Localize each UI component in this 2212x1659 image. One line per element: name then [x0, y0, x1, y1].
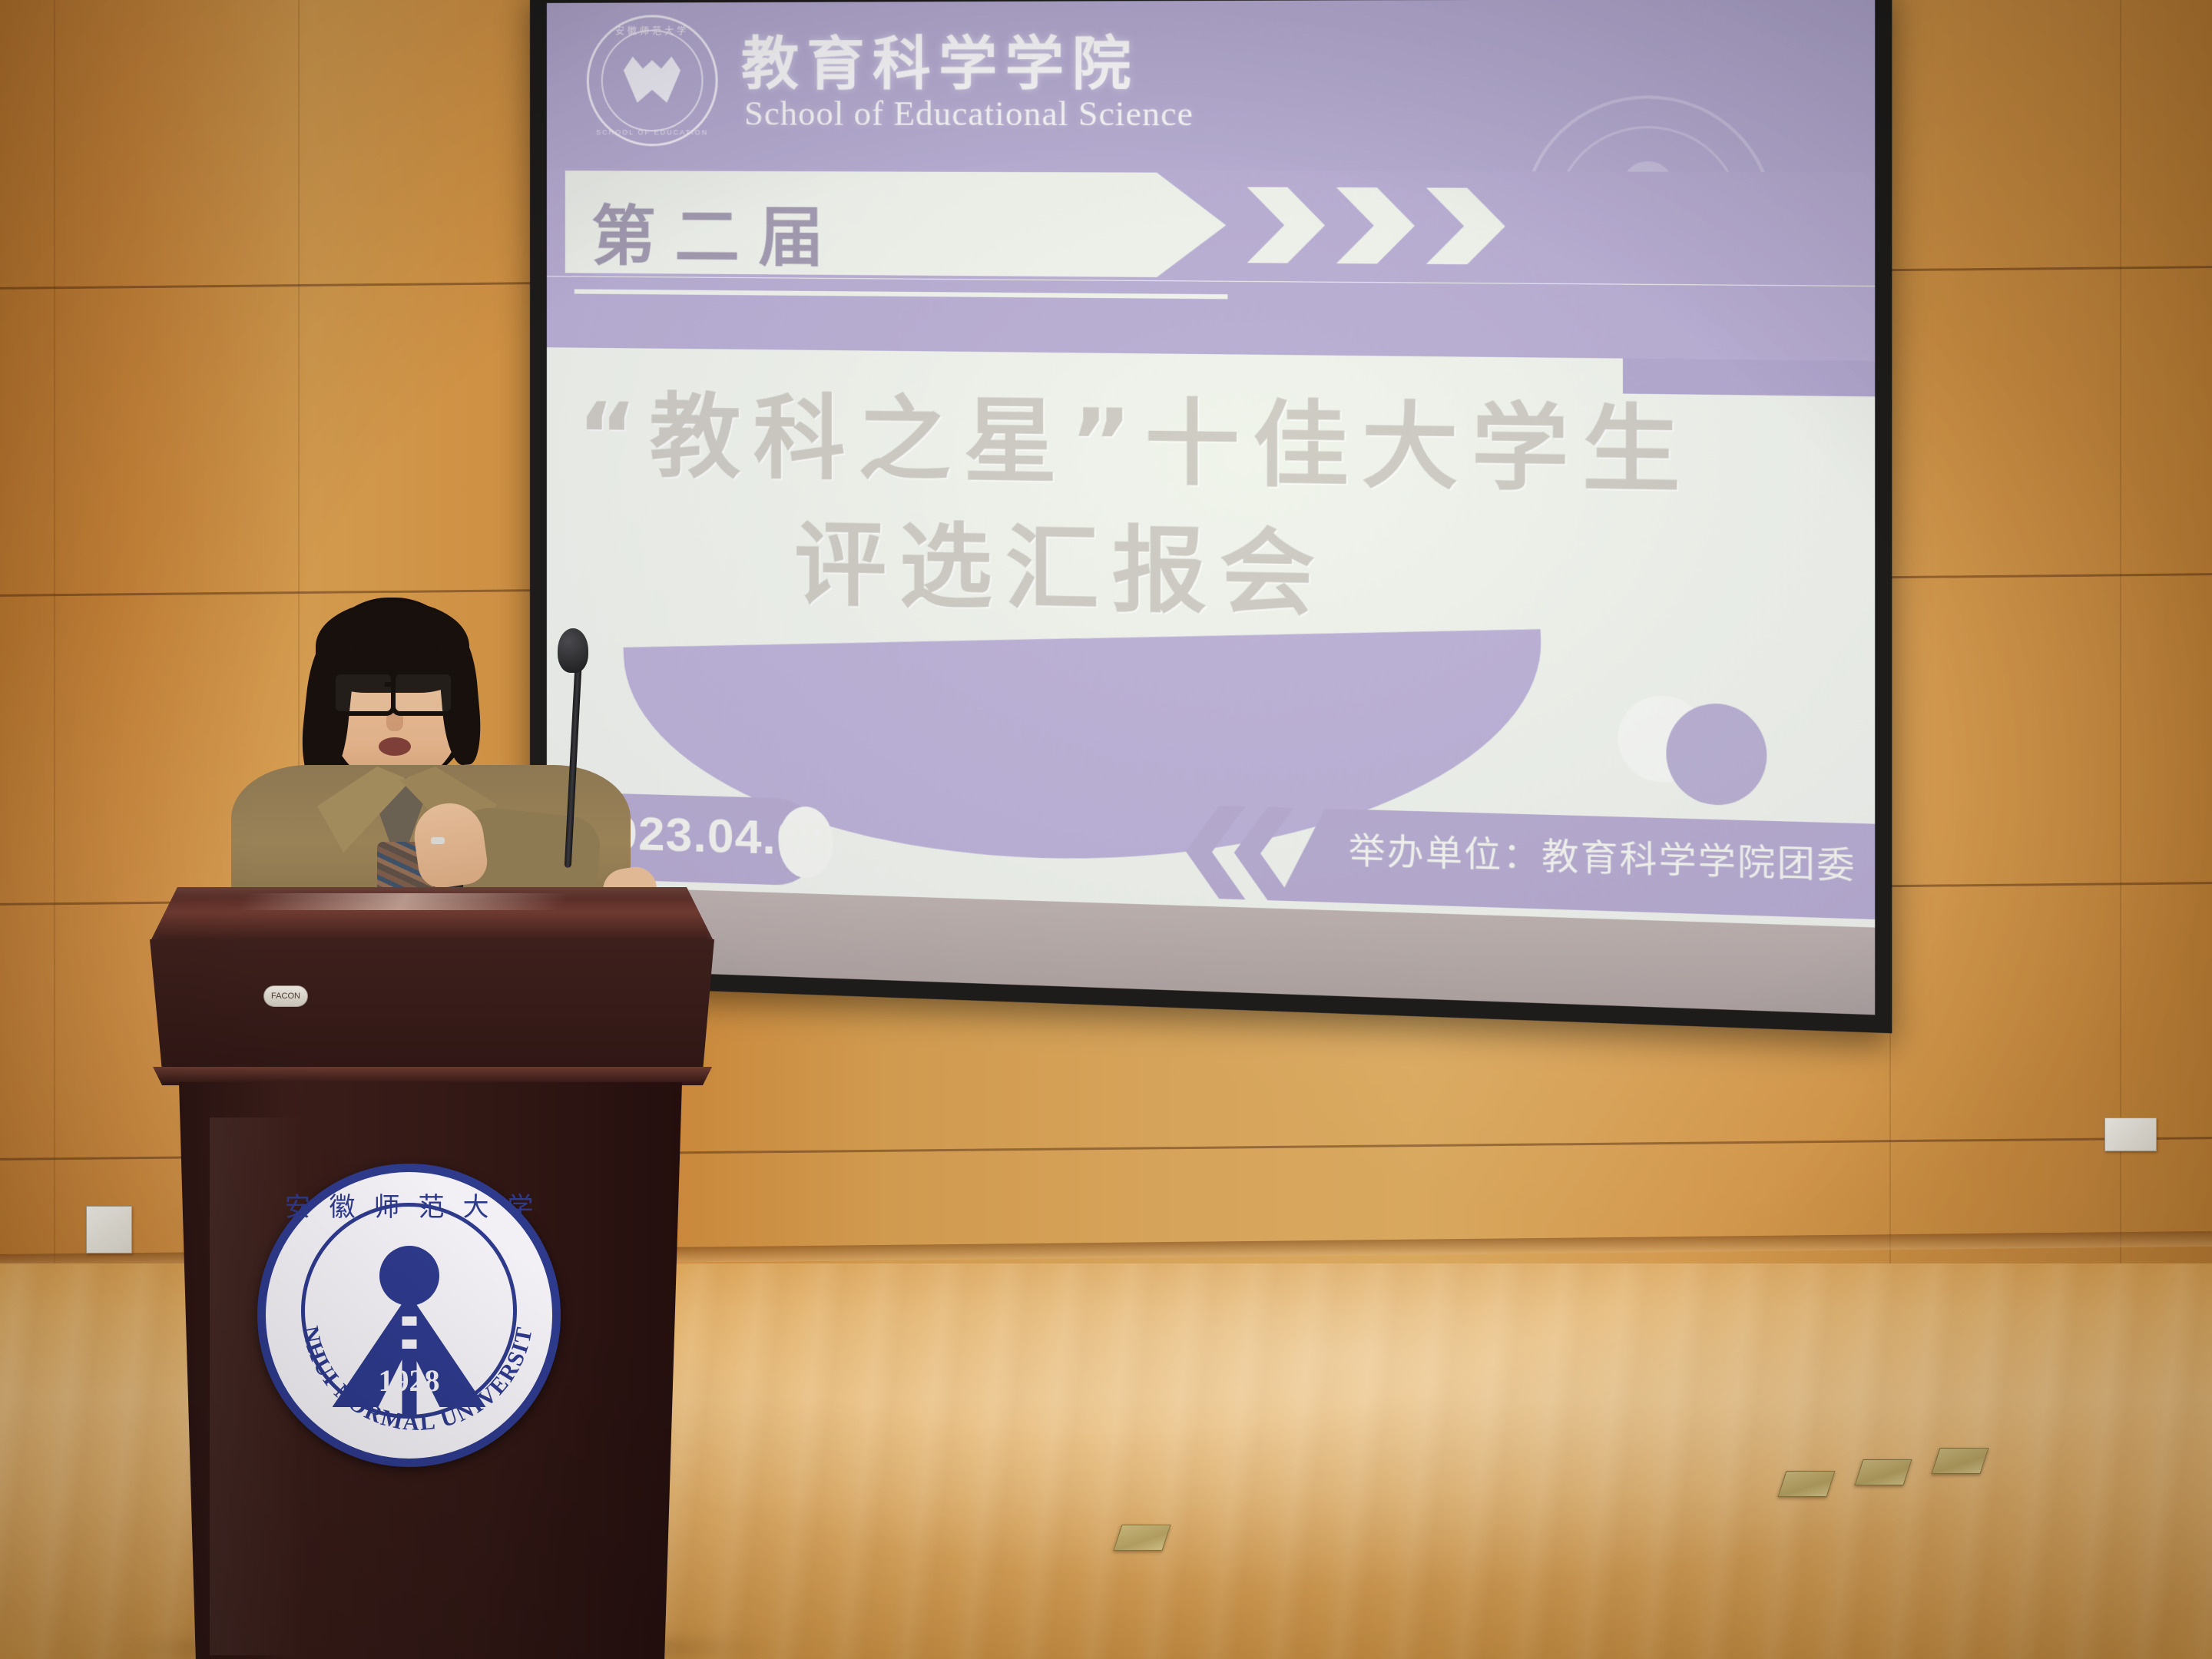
title-corner-accent [1623, 359, 1875, 397]
projection-screen: 安徽师范大学 SCHOOL OF EDUCATION 教育科学学院 School… [547, 0, 1875, 1015]
lectern-podium: FACON 安徽师范大学 1928 ANHUI NORMAL UNIVERSIT… [150, 887, 714, 1659]
emblem-name-en: ANHUI NORMAL UNIVERSITY [266, 1172, 538, 1435]
floor-outlet-plate-icon[interactable] [1777, 1471, 1835, 1497]
floor-outlet-plate-icon[interactable] [1931, 1448, 1988, 1474]
school-name-en: School of Educational Science [744, 94, 1194, 134]
wall-outlet-plate-icon[interactable] [2104, 1118, 2157, 1151]
crest-microtext-top: 安徽师范大学 [589, 24, 716, 37]
crest-microtext-bottom: SCHOOL OF EDUCATION [589, 128, 716, 136]
floor-outlet-plate-icon[interactable] [1113, 1525, 1171, 1551]
slide-title-line2: 评选汇报会 [794, 489, 1328, 633]
eyeglasses-right-lens [391, 670, 455, 716]
secondary-purple-band [547, 276, 1875, 361]
school-name-cn: 教育科学学院 [741, 17, 1139, 101]
wall-seam-vertical [2120, 0, 2121, 1306]
wall-outlet-plate-icon[interactable] [86, 1206, 132, 1253]
podium-brand-sticker: FACON [263, 985, 308, 1007]
emblem-arc-text: ANHUI NORMAL UNIVERSITY [266, 1172, 569, 1475]
decorative-circle-purple [1666, 703, 1767, 806]
podium-front-panel [150, 939, 714, 1071]
mouth [379, 737, 411, 756]
presentation-slide: 安徽师范大学 SCHOOL OF EDUCATION 教育科学学院 School… [547, 0, 1875, 1015]
auditorium-scene: 安徽师范大学 SCHOOL OF EDUCATION 教育科学学院 School… [0, 0, 2212, 1659]
eyeglasses-left-lens [331, 670, 396, 716]
edition-label: 第二届 [591, 184, 843, 280]
gooseneck-microphone-head-icon [558, 628, 588, 673]
wall-seam-vertical [54, 0, 55, 1306]
speaker-presenter [188, 584, 664, 914]
podium-brand-label: FACON [264, 986, 307, 1006]
anhui-normal-university-emblem-icon: 安徽师范大学 1928 ANHUI NORMAL UNIVERSITY [257, 1164, 561, 1467]
school-crest-icon: 安徽师范大学 SCHOOL OF EDUCATION [587, 15, 718, 146]
finger-ring [431, 837, 445, 844]
floor-outlet-plate-icon[interactable] [1854, 1459, 1912, 1485]
eyeglasses-bridge [385, 682, 396, 687]
podium-desktop-gloss [237, 893, 569, 910]
projection-screen-frame: 安徽师范大学 SCHOOL OF EDUCATION 教育科学学院 School… [530, 0, 1892, 1033]
svg-text:ANHUI NORMAL UNIVERSITY: ANHUI NORMAL UNIVERSITY [266, 1172, 538, 1435]
